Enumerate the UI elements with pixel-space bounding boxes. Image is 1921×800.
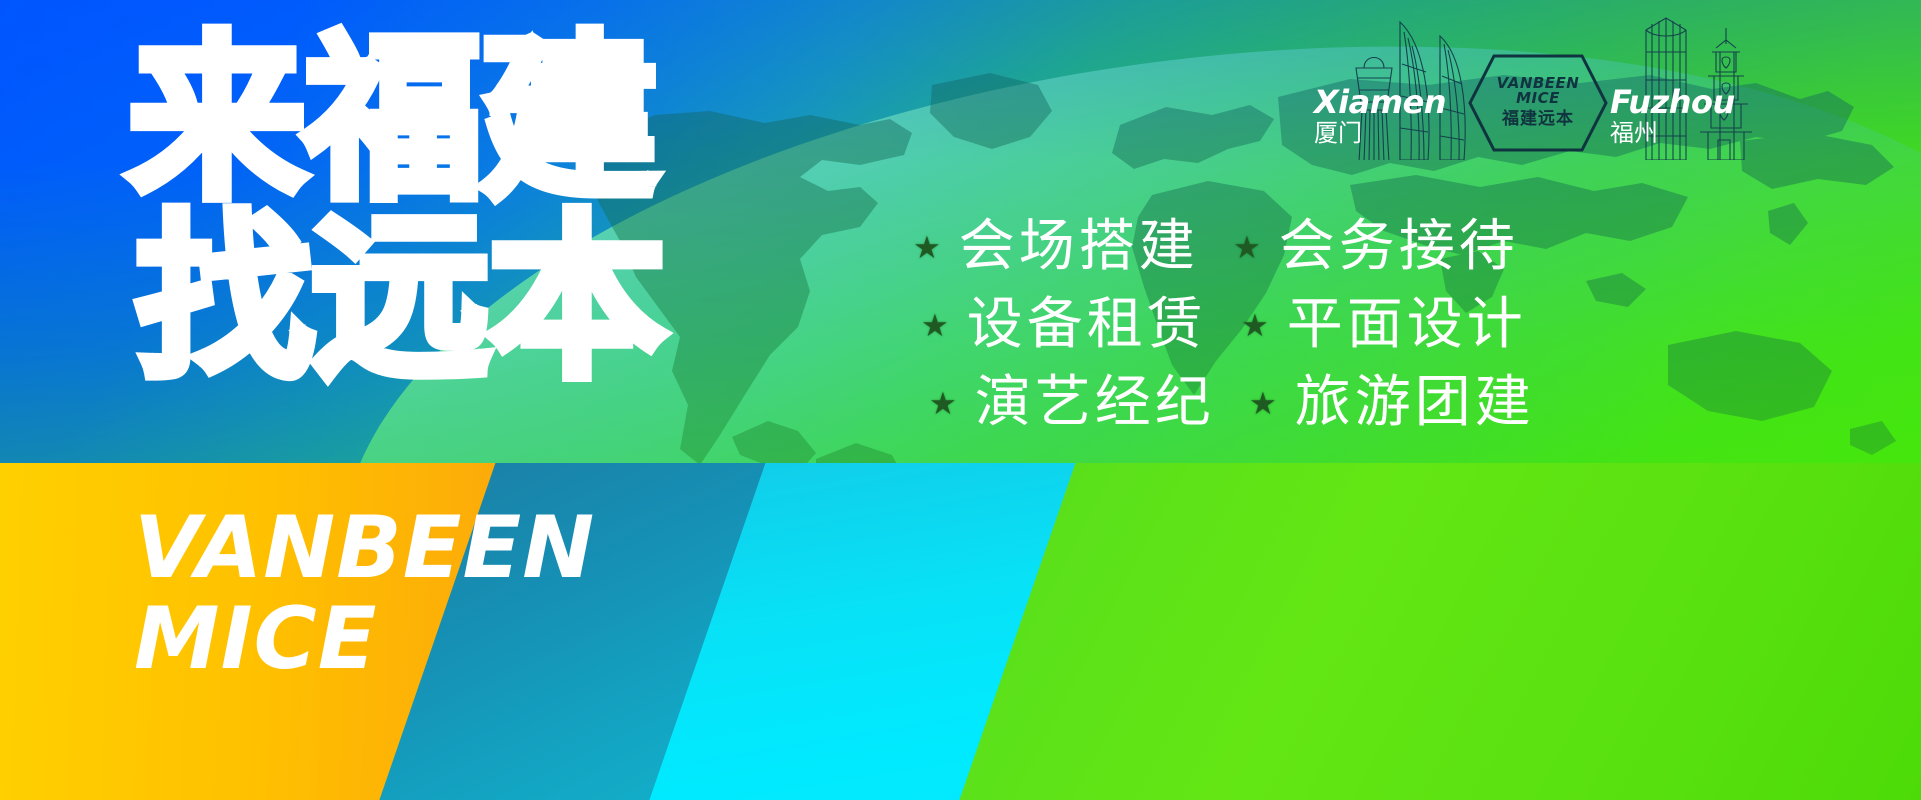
headline: 来福建 找远本 [128, 34, 664, 385]
service-item: ★ 平面设计 [1241, 297, 1561, 353]
city-xiamen: Xiamen 厦门 [1314, 86, 1446, 148]
diagonal-band-green [931, 463, 1921, 800]
headline-line-1: 来福建 [128, 34, 664, 207]
service-row: ★ 设备租赁 ★ 平面设计 [905, 286, 1915, 364]
service-item: ★ 设备租赁 [921, 297, 1241, 353]
star-icon: ★ [929, 388, 957, 419]
service-label: 会务接待 [1279, 219, 1519, 275]
star-icon: ★ [913, 232, 941, 263]
city-logo-bar: Xiamen 厦门 Fuzhou 福州 VANBEEN MICE 福建远本 [1320, 8, 1800, 168]
service-list: ★ 会场搭建 ★ 会务接待 ★ 设备租赁 ★ 平面设计 [905, 208, 1915, 442]
hex-logo-line-3: 福建远本 [1502, 109, 1574, 130]
city-xiamen-en: Xiamen [1314, 86, 1446, 118]
hexagon-logo-text: VANBEEN MICE 福建远本 [1468, 54, 1608, 152]
service-label: 平面设计 [1287, 297, 1527, 353]
star-icon: ★ [1233, 232, 1261, 263]
star-icon: ★ [1249, 388, 1277, 419]
service-item: ★ 会务接待 [1233, 219, 1553, 275]
promo-banner: 来福建 找远本 ★ 会场搭建 ★ 会务接待 ★ 设备租赁 [0, 0, 1921, 800]
bottom-brand-bar: VANBEEN MICE [0, 463, 1921, 800]
brand-line-1: VANBEEN [134, 498, 595, 598]
service-item: ★ 旅游团建 [1249, 375, 1569, 431]
city-fuzhou-en: Fuzhou [1610, 86, 1735, 118]
service-label: 演艺经纪 [975, 375, 1215, 431]
service-row: ★ 会场搭建 ★ 会务接待 [905, 208, 1915, 286]
service-label: 旅游团建 [1295, 375, 1535, 431]
brand-line-2: MICE [134, 598, 595, 681]
service-row: ★ 演艺经纪 ★ 旅游团建 [905, 364, 1915, 442]
brand-wordmark: VANBEEN MICE [134, 507, 595, 680]
service-label: 会场搭建 [959, 219, 1199, 275]
city-fuzhou: Fuzhou 福州 [1610, 86, 1735, 148]
hex-logo-line-2: MICE [1516, 91, 1560, 107]
vanbeen-hexagon-logo: VANBEEN MICE 福建远本 [1468, 54, 1608, 152]
headline-line-2: 找远本 [136, 213, 664, 386]
city-xiamen-cn: 厦门 [1314, 120, 1446, 148]
city-fuzhou-cn: 福州 [1610, 120, 1735, 148]
star-icon: ★ [921, 310, 949, 341]
star-icon: ★ [1241, 310, 1269, 341]
main-gradient-panel: 来福建 找远本 ★ 会场搭建 ★ 会务接待 ★ 设备租赁 [0, 0, 1921, 463]
service-item: ★ 会场搭建 [913, 219, 1233, 275]
service-label: 设备租赁 [967, 297, 1207, 353]
service-item: ★ 演艺经纪 [929, 375, 1249, 431]
